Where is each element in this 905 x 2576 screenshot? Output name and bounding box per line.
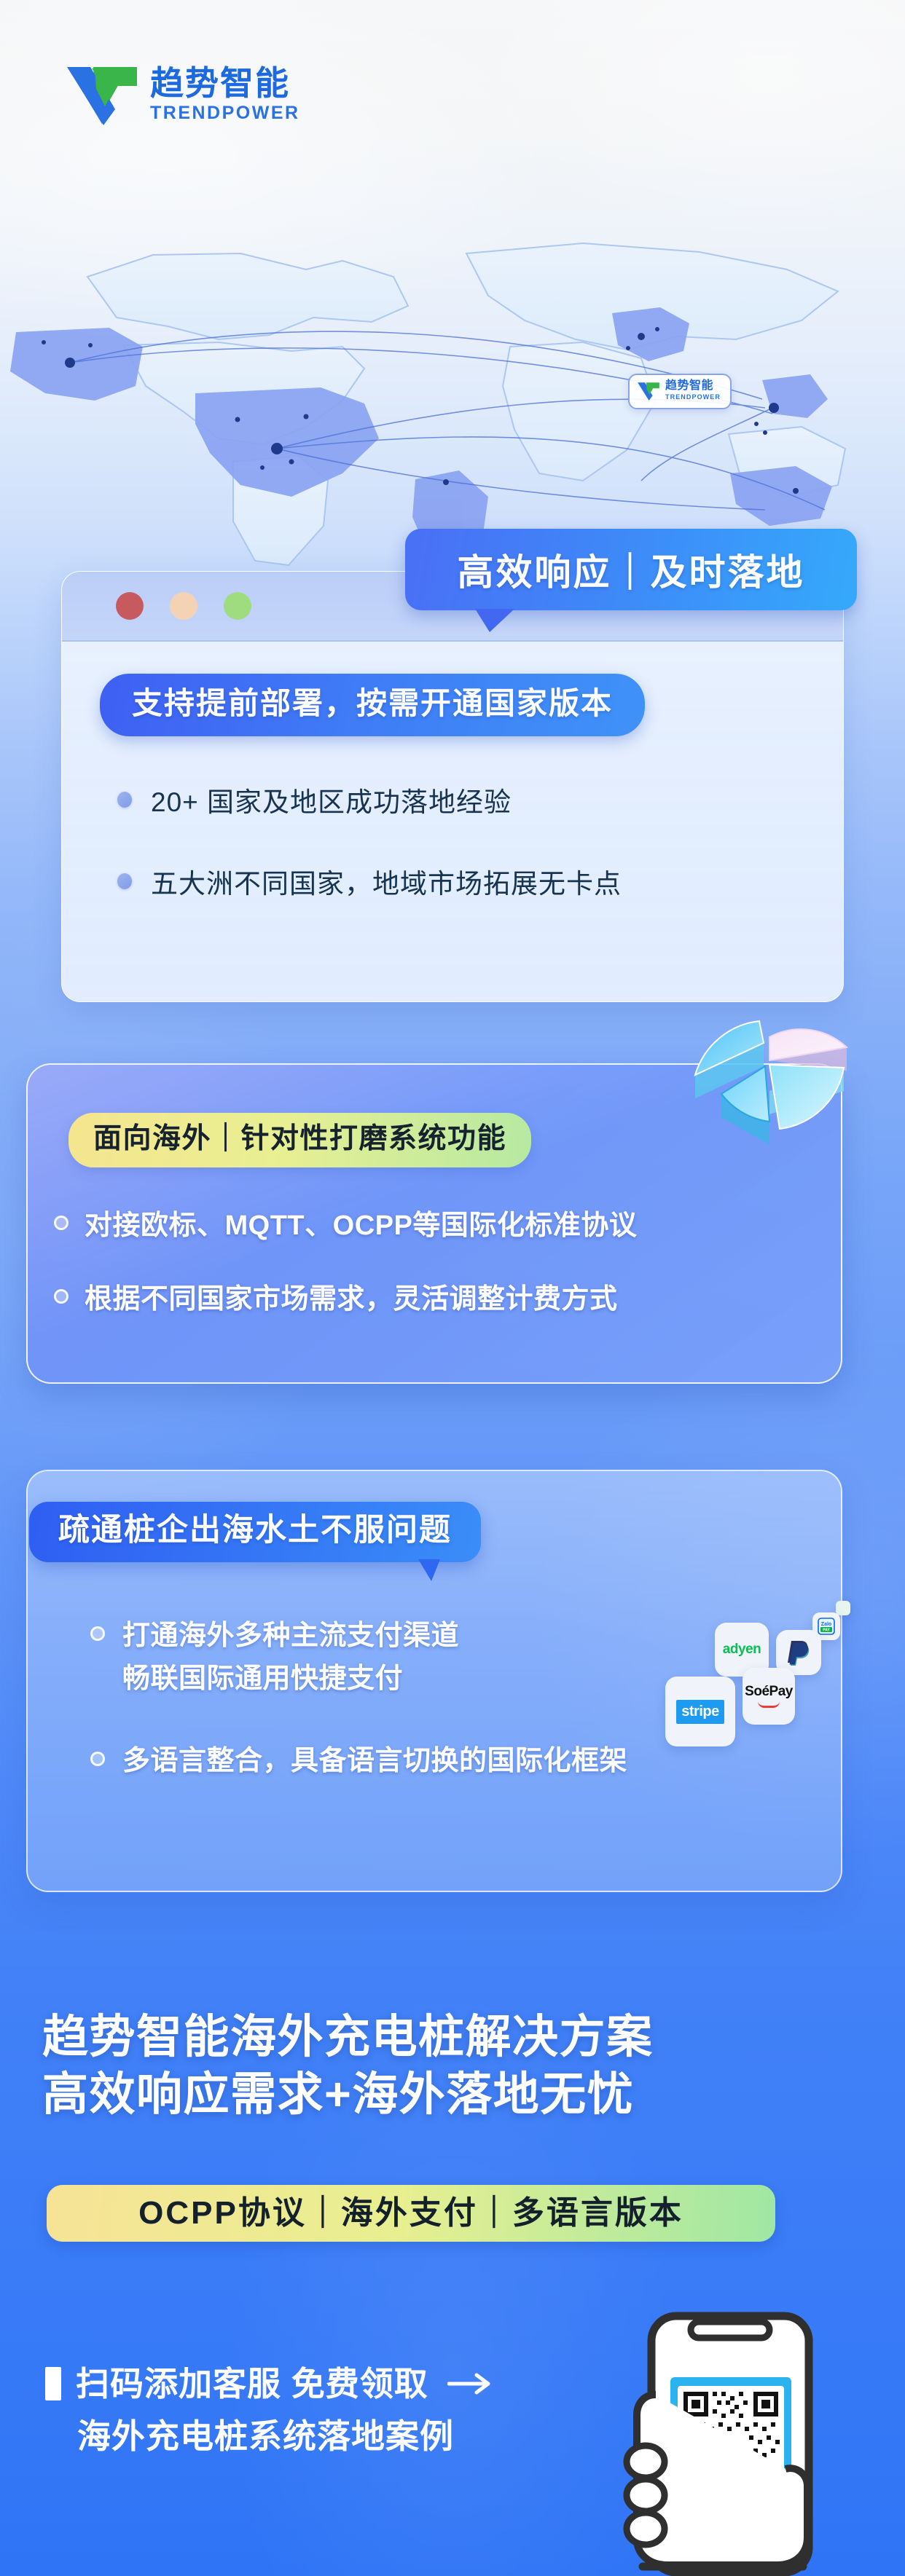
window-minimize-dot[interactable] [170,592,197,620]
logo-cn-text: 趋势智能 [150,66,300,101]
cta-line-2: 海外充电桩系统落地案例 [77,2419,614,2453]
bullet-ring-icon [90,1752,105,1766]
response-banner: 高效响应｜及时落地 [405,529,857,610]
payment-logo-soepay: SoéPay [743,1668,795,1725]
card-deployment: 支持提前部署，按需开通国家版本 20+ 国家及地区成功落地经验 五大洲不同国家，… [61,571,844,1002]
map-badge-en: TRENDPOWER [665,393,721,402]
infographic-page: 趋势智能 TRENDPOWER [0,0,905,2576]
logo-en-text: TRENDPOWER [150,102,300,124]
response-banner-text: 高效响应｜及时落地 [458,543,805,596]
cta-square-marker-icon [45,2367,61,2400]
card-payment-title: 疏通桩企出海水土不服问题 [29,1502,481,1562]
cta-block: 扫码添加客服 免费领取 海外充电桩系统落地案例 [45,2367,614,2453]
list-item-label: 对接欧标、MQTT、OCPP等国际化标准协议 [85,1202,637,1242]
list-item: 对接欧标、MQTT、OCPP等国际化标准协议 [54,1202,841,1242]
card-payment-list: 打通海外多种主流支付渠道 畅联国际通用快捷支付 多语言整合，具备语言切换的国际化… [90,1615,644,1783]
list-item: 多语言整合，具备语言切换的国际化框架 [90,1740,644,1783]
payment-logo-stripe: stripe [665,1677,735,1746]
svg-text:Zalo: Zalo [821,1622,831,1627]
list-item-label: 五大洲不同国家，地域市场拓展无卡点 [151,862,622,901]
card-overseas-list: 对接欧标、MQTT、OCPP等国际化标准协议 根据不同国家市场需求，灵活调整计费… [54,1202,841,1316]
list-item-label: 打通海外多种主流支付渠道 [122,1620,459,1651]
bullet-dot-icon [117,792,132,808]
zalopay-icon: Zalo PAY [816,1616,837,1636]
payment-logo-mini-icon [836,1601,850,1615]
card-deployment-list: 20+ 国家及地区成功落地经验 五大洲不同国家，地域市场拓展无卡点 [117,780,843,901]
map-badge-cn: 趋势智能 [665,380,721,392]
headline-line-2: 高效响应需求+海外落地无忧 [42,2066,866,2124]
hand-holding-phone-icon: Trend IoT [611,2310,851,2576]
list-item-label: 多语言整合，具备语言切换的国际化框架 [122,1740,627,1783]
paypal-icon [784,1636,813,1669]
brand-logo: 趋势智能 TRENDPOWER [67,64,300,125]
trendpower-v-checkmark-icon [638,382,659,401]
window-close-dot[interactable] [116,592,144,620]
list-item: 根据不同国家市场需求，灵活调整计费方式 [54,1276,841,1316]
card-deployment-title: 支持提前部署，按需开通国家版本 [100,674,645,736]
payment-logo-stripe-label: stripe [676,1700,724,1724]
payment-logo-adyen-label: adyen [723,1642,761,1658]
list-item-label: 畅联国际通用快捷支付 [122,1663,403,1694]
list-item: 打通海外多种主流支付渠道 畅联国际通用快捷支付 [90,1615,644,1701]
arrow-right-icon [447,2371,493,2397]
feature-tag-label: OCPP协议｜海外支付｜多语言版本 [138,2197,683,2229]
payment-logo-cluster: Zalo PAY adyen SoéPay stripe [659,1588,849,1762]
bullet-dot-icon [117,873,132,889]
headline-block: 趋势智能海外充电桩解决方案 高效响应需求+海外落地无忧 [42,2009,866,2124]
card-overseas-title: 面向海外｜针对性打磨系统功能 [68,1113,531,1167]
bullet-ring-icon [54,1216,68,1230]
world-map-icon [0,168,905,575]
map-brand-badge: 趋势智能 TRENDPOWER [628,374,732,409]
trendpower-v-checkmark-icon [67,64,137,125]
headline-line-1: 趋势智能海外充电桩解决方案 [42,2009,866,2066]
window-maximize-dot[interactable] [224,592,251,620]
payment-logo-soepay-label: SoéPay [745,1684,793,1699]
list-item-label: 根据不同国家市场需求，灵活调整计费方式 [85,1276,618,1316]
list-item: 五大洲不同国家，地域市场拓展无卡点 [117,862,843,901]
soepay-smile-icon [758,1701,780,1708]
svg-text:PAY: PAY [823,1628,830,1633]
bullet-ring-icon [54,1289,68,1304]
bullet-ring-icon [90,1626,105,1641]
list-item-label: 20+ 国家及地区成功落地经验 [151,780,512,819]
feature-tag-pill: OCPP协议｜海外支付｜多语言版本 [47,2185,775,2242]
pie-chart-3d-icon [678,999,853,1167]
cta-line-1: 扫码添加客服 免费领取 [76,2367,428,2400]
list-item: 20+ 国家及地区成功落地经验 [117,780,843,819]
world-map [0,168,905,575]
